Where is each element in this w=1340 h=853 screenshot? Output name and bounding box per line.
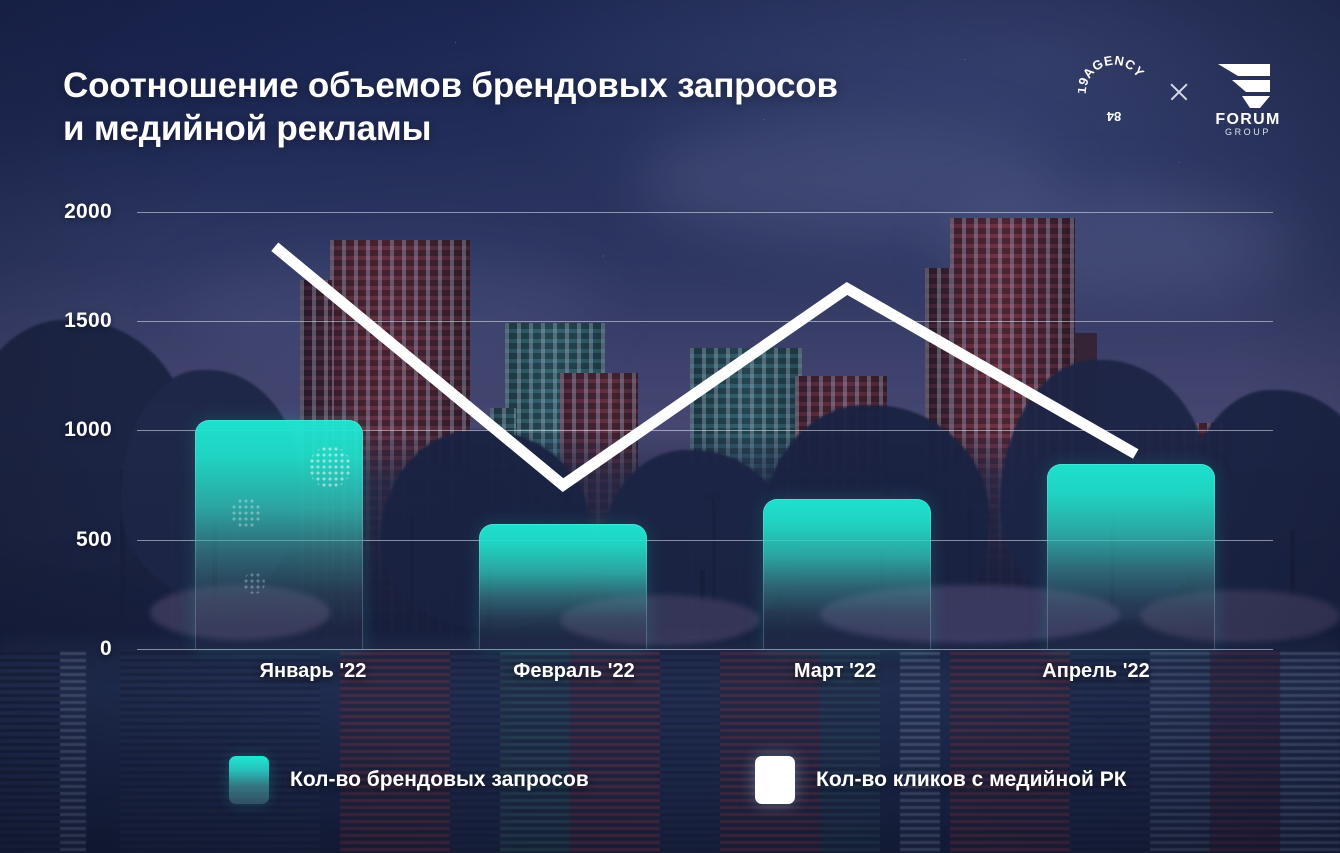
slide-root: Соотношение объемов брендовых запросов и… — [0, 0, 1340, 853]
legend-item-brand-queries[interactable]: Кол-во брендовых запросов — [229, 756, 589, 804]
x-tick-february: Февраль '22 — [513, 660, 634, 683]
y-tick-2000: 2000 — [64, 200, 112, 224]
y-tick-0: 0 — [100, 637, 112, 661]
line-series-media-clicks[interactable] — [137, 212, 1273, 649]
y-tick-500: 500 — [76, 528, 112, 552]
legend-swatch-line — [755, 756, 795, 804]
legend-label-brand-queries: Кол-во брендовых запросов — [290, 768, 589, 792]
legend-swatch-bars — [229, 756, 269, 804]
x-tick-april: Апрель '22 — [1042, 660, 1149, 683]
x-axis: Январь '22 Февраль '22 Март '22 Апрель '… — [137, 660, 1273, 690]
x-tick-march: Март '22 — [794, 660, 876, 683]
chart: 2000 1500 1000 500 0 Январь '22 Февраль … — [0, 0, 1340, 853]
x-tick-january: Январь '22 — [260, 660, 367, 683]
plot-area — [137, 212, 1273, 649]
y-tick-1500: 1500 — [64, 309, 112, 333]
y-axis: 2000 1500 1000 500 0 — [0, 0, 130, 853]
legend-label-media-clicks: Кол-во кликов с медийной РК — [816, 768, 1127, 792]
gridline-0 — [137, 649, 1273, 650]
legend-item-media-clicks[interactable]: Кол-во кликов с медийной РК — [755, 756, 1127, 804]
y-tick-1000: 1000 — [64, 418, 112, 442]
chart-legend: Кол-во брендовых запросов Кол-во кликов … — [0, 756, 1340, 806]
